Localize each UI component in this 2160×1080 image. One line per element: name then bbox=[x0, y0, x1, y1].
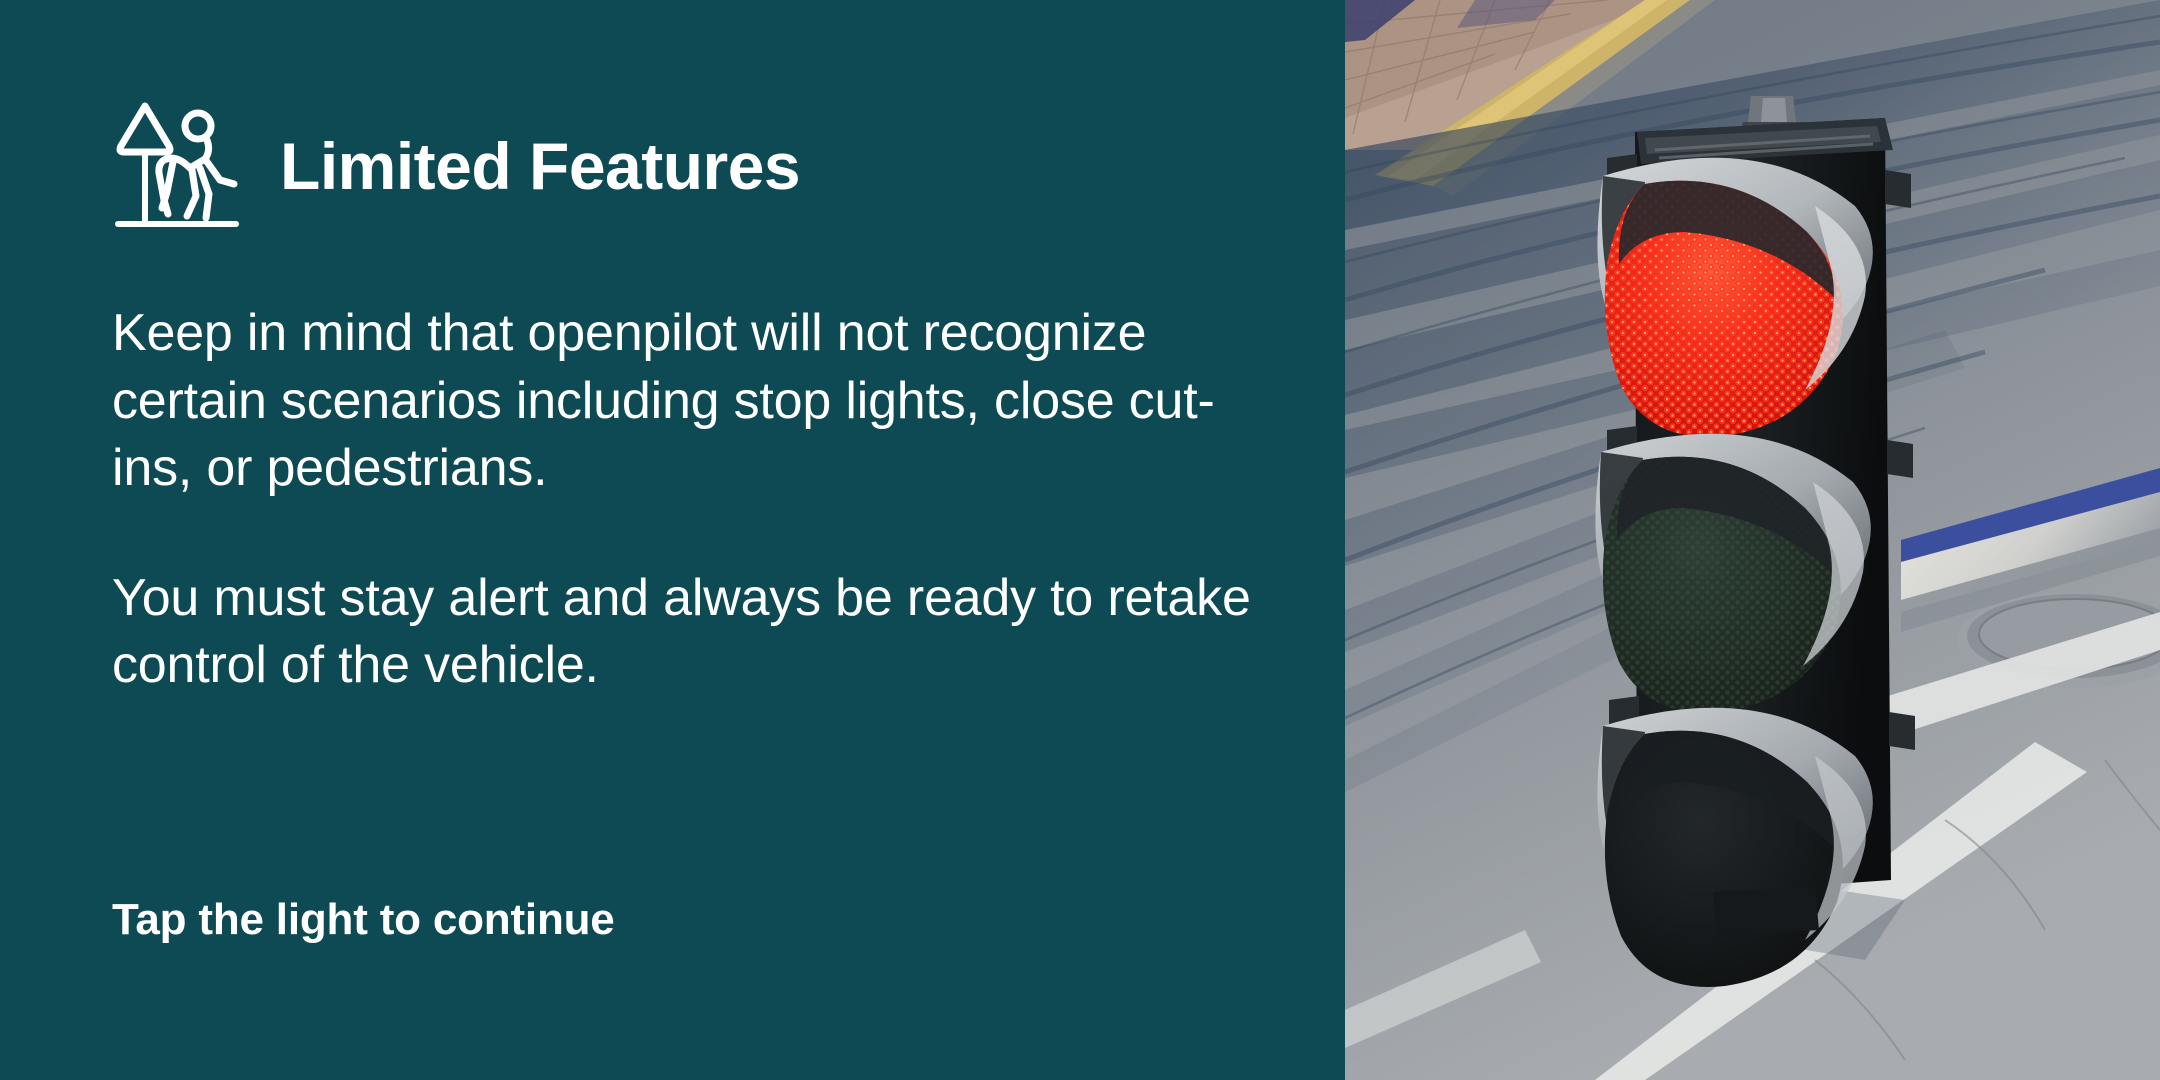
description-paragraph-1: Keep in mind that openpilot will not rec… bbox=[112, 300, 1262, 503]
traffic-light-photo-panel[interactable] bbox=[1345, 0, 2160, 1080]
traffic-light[interactable] bbox=[1595, 96, 1915, 987]
description-paragraph-2: You must stay alert and always be ready … bbox=[112, 565, 1262, 700]
description-block: Keep in mind that openpilot will not rec… bbox=[112, 300, 1292, 700]
traffic-light-photo[interactable] bbox=[1345, 0, 2160, 1080]
pedestrian-crossing-sign-icon bbox=[112, 96, 242, 236]
tap-hint-label: Tap the light to continue bbox=[112, 895, 615, 945]
info-panel: Limited Features Keep in mind that openp… bbox=[0, 0, 1345, 1080]
page-title: Limited Features bbox=[280, 133, 800, 199]
title-row: Limited Features bbox=[112, 96, 800, 236]
onboarding-screen: Limited Features Keep in mind that openp… bbox=[0, 0, 2160, 1080]
pole-stub bbox=[1713, 886, 1819, 936]
